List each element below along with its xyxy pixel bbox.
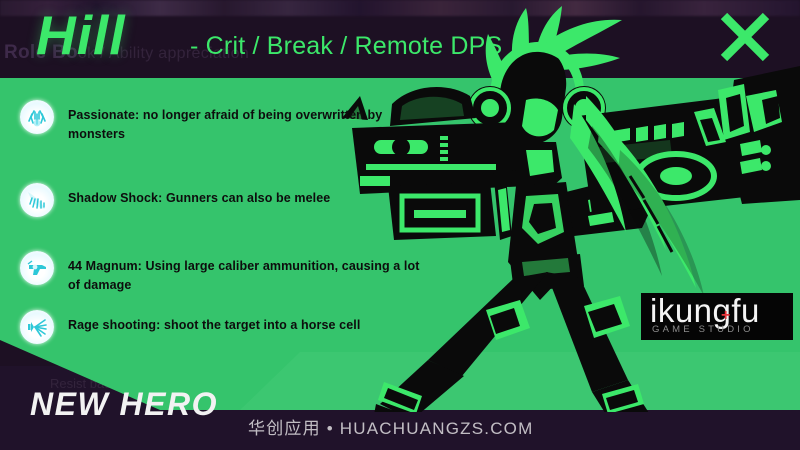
skill-item: Shadow Shock: Gunners can also be melee xyxy=(20,187,440,217)
hero-name-title: Hill xyxy=(36,8,126,63)
hero-promo-screen: Role Book / Ability appreciation Resist … xyxy=(0,0,800,450)
wings-hands-icon xyxy=(20,100,54,134)
close-x-icon[interactable] xyxy=(718,10,772,64)
revolver-icon xyxy=(20,251,54,285)
skill-item: Rage shooting: shoot the target into a h… xyxy=(20,314,440,344)
skill-description: Rage shooting: shoot the target into a h… xyxy=(68,314,360,335)
burst-spray-icon xyxy=(20,310,54,344)
studio-logo-tagline: GAME STUDIO xyxy=(652,324,754,335)
skill-description: 44 Magnum: Using large caliber ammunitio… xyxy=(68,255,420,296)
skill-item: Passionate: no longer afraid of being ov… xyxy=(20,104,440,145)
studio-logo-plus-mark: + xyxy=(721,308,730,324)
site-watermark: 华创应用 • HUACHUANGZS.COM xyxy=(248,414,533,439)
new-hero-label: NEW HERO xyxy=(30,386,218,423)
studio-logo: ikungfu + GAME STUDIO xyxy=(641,293,793,340)
skill-description: Shadow Shock: Gunners can also be melee xyxy=(68,187,330,208)
skill-list: Passionate: no longer afraid of being ov… xyxy=(20,104,440,368)
skill-item: 44 Magnum: Using large caliber ammunitio… xyxy=(20,255,440,296)
skill-description: Passionate: no longer afraid of being ov… xyxy=(68,104,420,145)
shadow-slash-icon xyxy=(20,183,54,217)
